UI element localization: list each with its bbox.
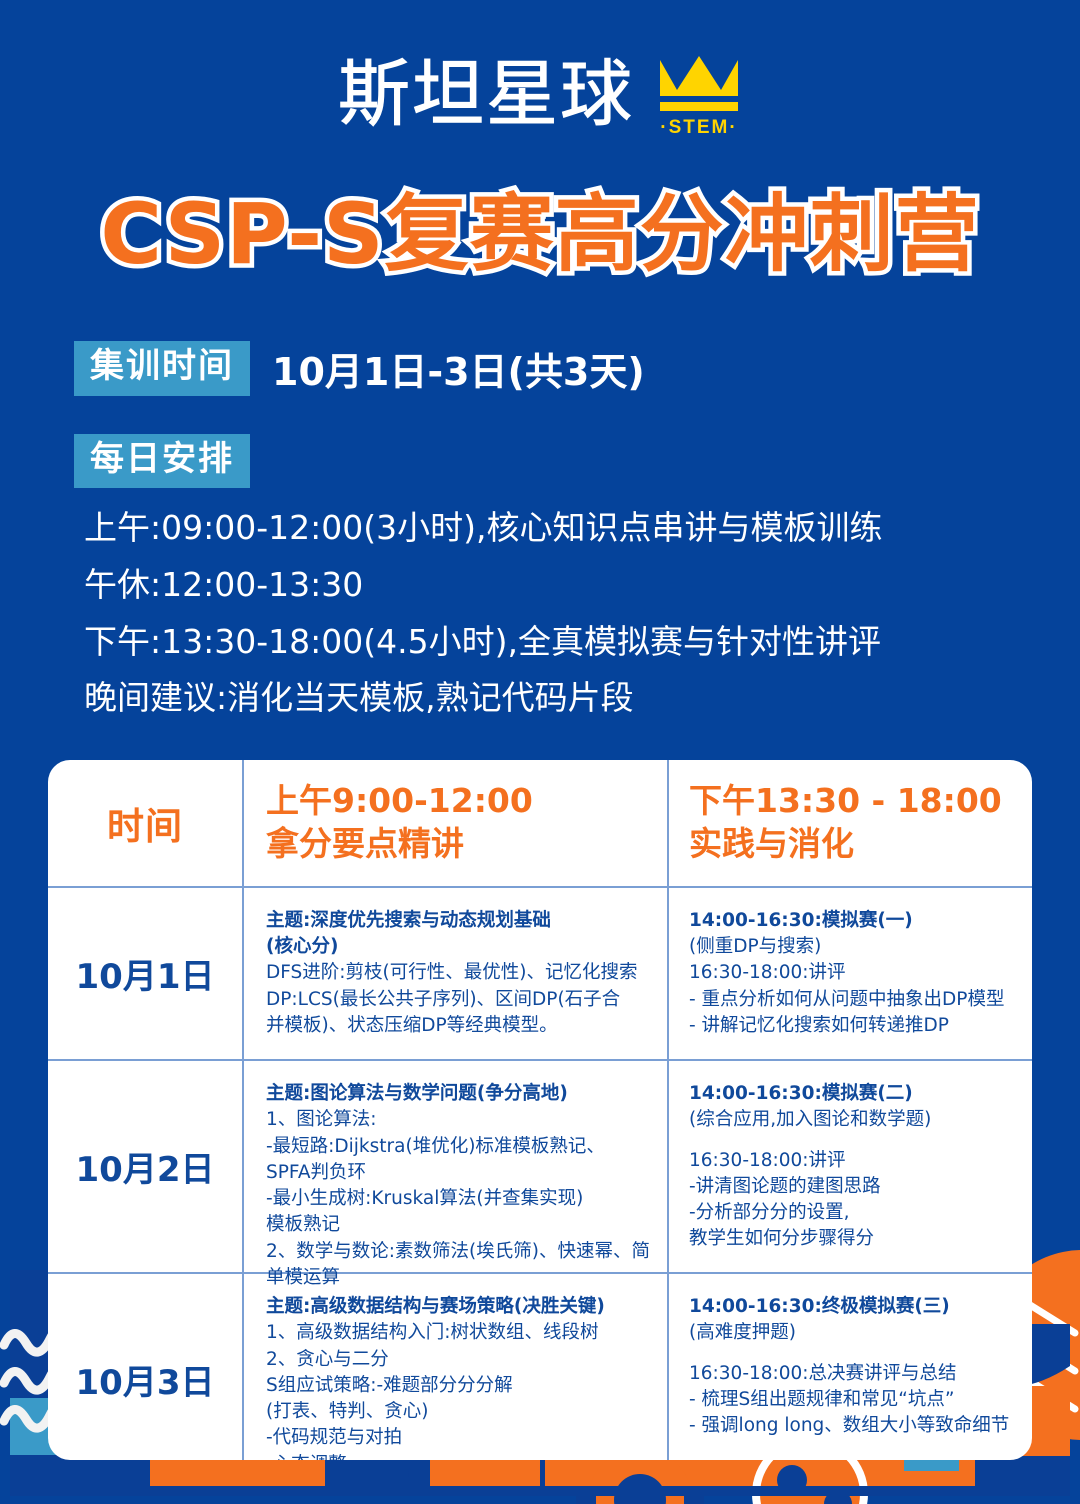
content-line: 2、数学与数论:素数筛法(埃氏筛)、快速幂、简 [266, 1239, 651, 1265]
content-line: -分析部分分的设置, [689, 1200, 1018, 1226]
content-line: -最短路:Dijkstra(堆优化)标准模板熟记、 [266, 1134, 651, 1160]
row-date-label: 10月1日 [76, 949, 215, 998]
header-morning-line1: 上午9:00-12:00 [266, 780, 651, 823]
content-line: 主题:深度优先搜索与动态规划基础 [266, 908, 651, 934]
crown-stem-mark: ·STEM· [656, 52, 742, 139]
daily-line: 下午:13:30-18:00(4.5小时),全真模拟赛与针对性讲评 [84, 614, 1044, 671]
table-header-row: 时间 上午9:00-12:00 拿分要点精讲 下午13:30 - 18:00 实… [48, 760, 1032, 888]
content-line: 14:00-16:30:模拟赛(一) [689, 908, 1018, 934]
content-line: - 强调long long、数组大小等致命细节 [689, 1413, 1018, 1439]
content-line: 模板熟记 [266, 1212, 651, 1238]
brand-logo: 斯坦星球 ·STEM· [0, 48, 1080, 139]
header-afternoon-line1: 下午13:30 - 18:00 [689, 780, 1018, 823]
daily-line: 晚间建议:消化当天模板,熟记代码片段 [84, 670, 1044, 727]
row-date-label: 10月3日 [76, 1355, 215, 1404]
morning-content: 主题:高级数据结构与赛场策略(决胜关键)1、高级数据结构入门:树状数组、线段树2… [266, 1294, 651, 1460]
row-date-cell: 10月3日 [48, 1274, 244, 1460]
content-line: S组应试策略:-难题部分分分解 [266, 1373, 651, 1399]
row-afternoon-cell: 14:00-16:30:模拟赛(一)(侧重DP与搜索)16:30-18:00:讲… [669, 888, 1032, 1059]
content-line: 并模板)、状态压缩DP等经典模型。 [266, 1013, 651, 1039]
stem-label: ·STEM· [660, 117, 737, 139]
content-line: (综合应用,加入图论和数学题) [689, 1107, 1018, 1133]
content-line: (高难度押题) [689, 1320, 1018, 1346]
content-line: DP:LCS(最长公共子序列)、区间DP(石子合 [266, 987, 651, 1013]
daily-line: 午休:12:00-13:30 [84, 557, 1044, 614]
table-row: 10月2日 主题:图论算法与数学问题(争分高地)1、图论算法:-最短路:Dijk… [48, 1061, 1032, 1274]
row-morning-cell: 主题:图论算法与数学问题(争分高地)1、图论算法:-最短路:Dijkstra(堆… [244, 1061, 669, 1272]
content-line: 16:30-18:00:总决赛讲评与总结 [689, 1361, 1018, 1387]
content-line: 14:00-16:30:终极模拟赛(三) [689, 1294, 1018, 1320]
header-cell-time: 时间 [48, 760, 244, 886]
content-line [689, 1347, 1018, 1361]
table-row: 10月1日 主题:深度优先搜索与动态规划基础(核心分)DFS进阶:剪枝(可行性、… [48, 888, 1032, 1061]
page-title: CSP-S复赛高分冲刺营 [0, 190, 1080, 278]
row-date-cell: 10月2日 [48, 1061, 244, 1272]
table-row: 10月3日 主题:高级数据结构与赛场策略(决胜关键)1、高级数据结构入门:树状数… [48, 1274, 1032, 1460]
content-line: (打表、特判、贪心) [266, 1399, 651, 1425]
content-line: 2、贪心与二分 [266, 1347, 651, 1373]
content-line: - 重点分析如何从问题中抽象出DP模型 [689, 987, 1018, 1013]
content-line: (核心分) [266, 934, 651, 960]
content-line: 14:00-16:30:模拟赛(二) [689, 1081, 1018, 1107]
header-morning-line2: 拿分要点精讲 [266, 823, 651, 866]
content-line: 16:30-18:00:讲评 [689, 960, 1018, 986]
row-morning-cell: 主题:深度优先搜索与动态规划基础(核心分)DFS进阶:剪枝(可行性、最优性)、记… [244, 888, 669, 1059]
content-line: 1、图论算法: [266, 1107, 651, 1133]
header-time-label: 时间 [107, 796, 183, 850]
afternoon-content: 14:00-16:30:终极模拟赛(三)(高难度押题) 16:30-18:00:… [689, 1294, 1018, 1439]
content-line: -代码规范与对拍 [266, 1425, 651, 1451]
row-date-cell: 10月1日 [48, 888, 244, 1059]
content-line: -心态调整 [266, 1452, 651, 1460]
row-morning-cell: 主题:高级数据结构与赛场策略(决胜关键)1、高级数据结构入门:树状数组、线段树2… [244, 1274, 669, 1460]
morning-content: 主题:深度优先搜索与动态规划基础(核心分)DFS进阶:剪枝(可行性、最优性)、记… [266, 908, 651, 1039]
daily-schedule-list: 上午:09:00-12:00(3小时),核心知识点串讲与模板训练 午休:12:0… [84, 500, 1044, 727]
afternoon-content: 14:00-16:30:模拟赛(二)(综合应用,加入图论和数学题) 16:30-… [689, 1081, 1018, 1253]
daily-schedule-badge: 每日安排 [74, 434, 250, 488]
content-line: 主题:图论算法与数学问题(争分高地) [266, 1081, 651, 1107]
header-cell-morning: 上午9:00-12:00 拿分要点精讲 [244, 760, 669, 886]
content-line: 1、高级数据结构入门:树状数组、线段树 [266, 1320, 651, 1346]
content-line: - 梳理S组出题规律和常见“坑点” [689, 1387, 1018, 1413]
header-cell-afternoon: 下午13:30 - 18:00 实践与消化 [669, 760, 1032, 886]
content-line: DFS进阶:剪枝(可行性、最优性)、记忆化搜索 [266, 960, 651, 986]
camp-time-row: 集训时间 10月1日-3日(共3天) [74, 341, 645, 396]
content-line: -讲清图论题的建图思路 [689, 1174, 1018, 1200]
row-afternoon-cell: 14:00-16:30:模拟赛(二)(综合应用,加入图论和数学题) 16:30-… [669, 1061, 1032, 1272]
content-line: 主题:高级数据结构与赛场策略(决胜关键) [266, 1294, 651, 1320]
row-date-label: 10月2日 [76, 1142, 215, 1191]
header-afternoon-line2: 实践与消化 [689, 823, 1018, 866]
daily-line: 上午:09:00-12:00(3小时),核心知识点串讲与模板训练 [84, 500, 1044, 557]
camp-time-badge: 集训时间 [74, 341, 250, 395]
content-line: 教学生如何分步骤得分 [689, 1226, 1018, 1252]
content-line: (侧重DP与搜索) [689, 934, 1018, 960]
crown-icon [656, 52, 742, 114]
afternoon-content: 14:00-16:30:模拟赛(一)(侧重DP与搜索)16:30-18:00:讲… [689, 908, 1018, 1039]
content-line: - 讲解记忆化搜索如何转递推DP [689, 1013, 1018, 1039]
content-line: 16:30-18:00:讲评 [689, 1148, 1018, 1174]
content-line: -最小生成树:Kruskal算法(并查集实现) [266, 1186, 651, 1212]
content-line: SPFA判负环 [266, 1160, 651, 1186]
morning-content: 主题:图论算法与数学问题(争分高地)1、图论算法:-最短路:Dijkstra(堆… [266, 1081, 651, 1291]
camp-time-value: 10月1日-3日(共3天) [272, 341, 645, 396]
schedule-table: 时间 上午9:00-12:00 拿分要点精讲 下午13:30 - 18:00 实… [48, 760, 1032, 1460]
row-afternoon-cell: 14:00-16:30:终极模拟赛(三)(高难度押题) 16:30-18:00:… [669, 1274, 1032, 1460]
logo-text: 斯坦星球 [338, 58, 634, 130]
content-line [689, 1134, 1018, 1148]
daily-schedule-row: 每日安排 [74, 434, 250, 488]
